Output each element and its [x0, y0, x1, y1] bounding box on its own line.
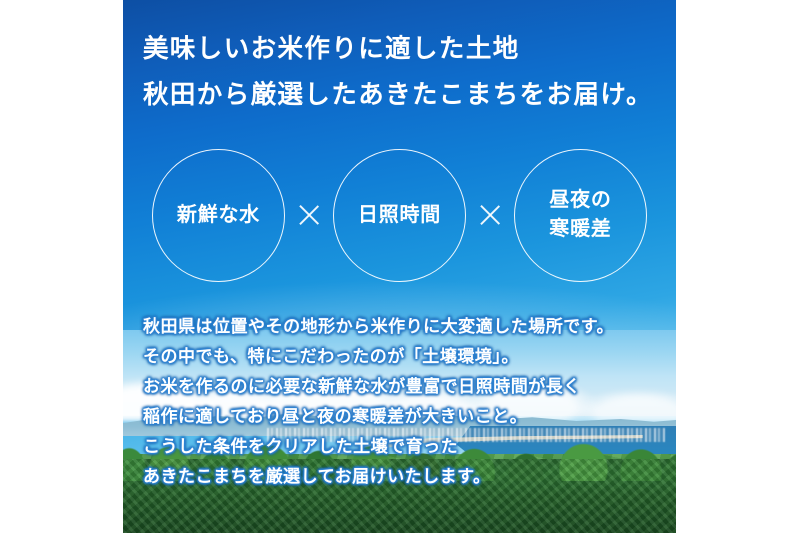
feature-circle-fresh-water: 新鮮な水	[152, 149, 285, 282]
feature-circles: 新鮮な水 日照時間 昼夜の 寒暖差	[123, 148, 676, 282]
headline-line-2: 秋田から厳選したあきたこまちをお届け。	[143, 72, 653, 118]
body-line-3: お米を作るのに必要な新鮮な水が豊富で日照時間が長く	[143, 372, 663, 402]
body-line-1: 秋田県は位置やその地形から米作りに大変適した場所です。	[143, 312, 663, 342]
screenshot-canvas: 美味しいお米作りに適した土地 秋田から厳選したあきたこまちをお届け。 新鮮な水 …	[0, 0, 800, 533]
feature-circle-temperature-range: 昼夜の 寒暖差	[514, 149, 647, 282]
feature-circle-sunshine-hours: 日照時間	[333, 149, 466, 282]
body-line-2: その中でも、特にこだわったのが「土壌環境」。	[143, 342, 663, 372]
headline-line-1: 美味しいお米作りに適した土地	[143, 26, 653, 72]
body-copy: 秋田県は位置やその地形から米作りに大変適した場所です。 その中でも、特にこだわっ…	[143, 312, 663, 492]
body-line-5: こうした条件をクリアした土壌で育った	[143, 432, 663, 462]
feature-label-line-1: 昼夜の	[549, 189, 611, 211]
headline: 美味しいお米作りに適した土地 秋田から厳選したあきたこまちをお届け。	[143, 26, 653, 118]
body-line-6: あきたこまちを厳選してお届けいたします。	[143, 462, 663, 492]
promo-banner: 美味しいお米作りに適した土地 秋田から厳選したあきたこまちをお届け。 新鮮な水 …	[123, 0, 676, 533]
feature-label-fresh-water: 新鮮な水	[177, 201, 260, 230]
multiply-icon-1	[296, 202, 322, 228]
feature-label-line-2: 寒暖差	[549, 218, 611, 240]
body-line-4: 稲作に適しており昼と夜の寒暖差が大きいこと。	[143, 402, 663, 432]
feature-label-temperature-range: 昼夜の 寒暖差	[549, 186, 611, 244]
feature-label-sunshine-hours: 日照時間	[358, 201, 441, 230]
multiply-icon-2	[477, 202, 503, 228]
